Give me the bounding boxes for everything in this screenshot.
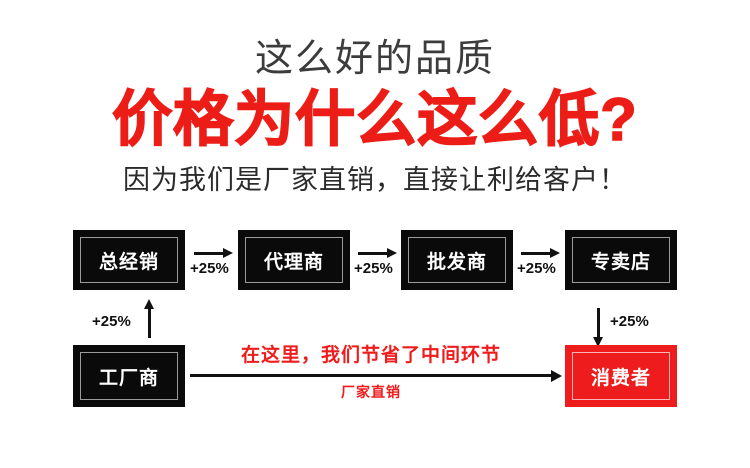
arrow-right-icon: [521, 252, 551, 255]
direct-sales-note: 厂家直销: [190, 382, 552, 402]
flow-node-agent: 代理商: [238, 230, 350, 290]
flow-node-label: 消费者: [591, 363, 651, 390]
markup-label-c-to-d: +25%: [517, 260, 556, 277]
sub-headline: 因为我们是厂家直销，直接让利给客户！: [0, 163, 750, 197]
main-headline: 价格为什么这么低?: [0, 86, 750, 154]
flow-node-wholesaler: 批发商: [401, 230, 513, 290]
markup-label-b-to-c: +25%: [354, 260, 393, 277]
flow-node-consumer: 消费者: [565, 345, 677, 407]
flow-node-factory: 工厂商: [73, 345, 185, 407]
kicker-text: 这么好的品质: [0, 36, 750, 82]
arrow-down-icon: [597, 308, 600, 338]
markup-label-a-to-b: +25%: [190, 260, 229, 277]
arrow-right-icon: [358, 252, 388, 255]
flow-node-label: 批发商: [427, 247, 487, 274]
flow-node-label: 工厂商: [99, 363, 159, 390]
flow-node-label: 专卖店: [591, 247, 651, 274]
flow-node-retail-store: 专卖店: [565, 230, 677, 290]
markup-label-factory-to-distributor: +25%: [92, 313, 131, 330]
arrow-right-long-icon: [190, 374, 552, 377]
savings-note: 在这里，我们节省了中间环节: [190, 340, 552, 367]
flow-node-label: 总经销: [99, 247, 159, 274]
promo-poster: 这么好的品质 价格为什么这么低? 因为我们是厂家直销，直接让利给客户！ 总经销 …: [0, 0, 750, 468]
arrow-up-icon: [148, 308, 151, 338]
flow-node-label: 代理商: [264, 247, 324, 274]
arrow-right-icon: [194, 252, 224, 255]
markup-label-store-to-consumer: +25%: [610, 313, 649, 330]
flow-node-distributor: 总经销: [73, 230, 185, 290]
